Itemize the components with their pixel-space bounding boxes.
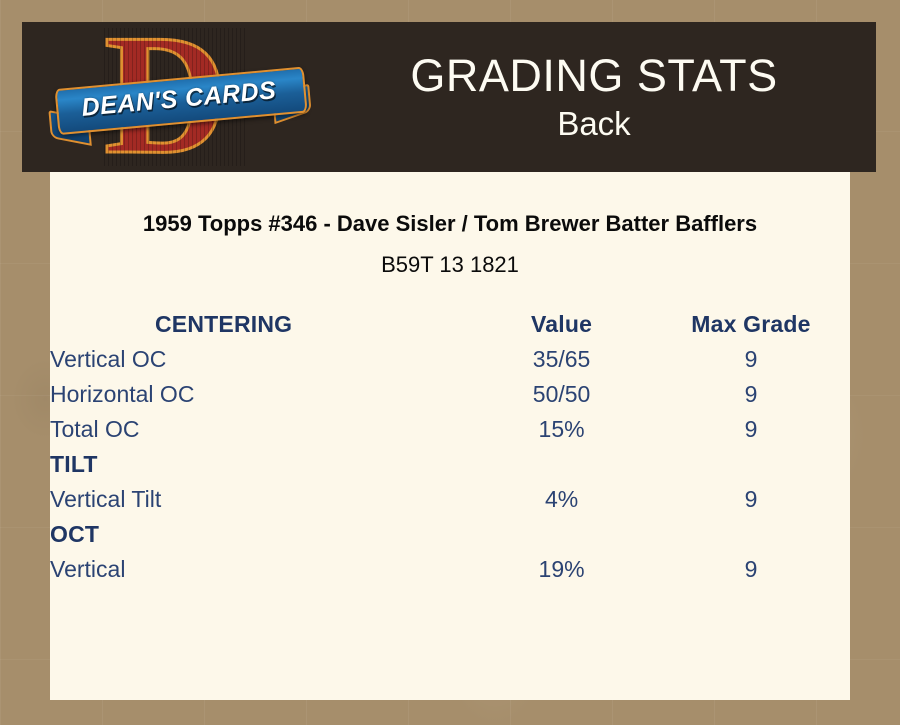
section-spacer-max <box>652 447 850 482</box>
table-row: Vertical OC35/659 <box>50 342 850 377</box>
row-label: Vertical OC <box>50 342 471 377</box>
table-row: Total OC15%9 <box>50 412 850 447</box>
stats-table-body: Vertical OC35/659Horizontal OC50/509Tota… <box>50 342 850 587</box>
stats-table-header-row: CENTERING Value Max Grade <box>50 307 850 342</box>
page-title: GRADING STATS <box>410 50 777 102</box>
row-label: Vertical Tilt <box>50 482 471 517</box>
page-subtitle: Back <box>557 104 630 144</box>
column-header-max-grade: Max Grade <box>652 307 850 342</box>
header-title-block: GRADING STATS Back <box>312 22 876 172</box>
row-label: Vertical <box>50 552 471 587</box>
section-spacer-value <box>471 517 652 552</box>
row-max-grade: 9 <box>652 377 850 412</box>
table-row: Vertical Tilt4%9 <box>50 482 850 517</box>
column-header-centering: CENTERING <box>50 307 471 342</box>
row-label: Horizontal OC <box>50 377 471 412</box>
row-value: 15% <box>471 412 652 447</box>
deans-cards-logo[interactable]: D DEAN'S CARDS <box>46 26 312 168</box>
row-max-grade: 9 <box>652 412 850 447</box>
row-value: 50/50 <box>471 377 652 412</box>
header-panel: D DEAN'S CARDS GRADING STATS Back <box>22 22 876 172</box>
grading-stats-table: CENTERING Value Max Grade Vertical OC35/… <box>50 307 850 587</box>
row-value: 4% <box>471 482 652 517</box>
content-panel: 1959 Topps #346 - Dave Sisler / Tom Brew… <box>50 172 850 700</box>
section-name: TILT <box>50 447 471 482</box>
section-name: OCT <box>50 517 471 552</box>
table-row: Horizontal OC50/509 <box>50 377 850 412</box>
section-spacer-max <box>652 517 850 552</box>
table-row: Vertical19%9 <box>50 552 850 587</box>
column-header-value: Value <box>471 307 652 342</box>
row-max-grade: 9 <box>652 552 850 587</box>
section-row: OCT <box>50 517 850 552</box>
row-max-grade: 9 <box>652 482 850 517</box>
card-code: B59T 13 1821 <box>50 239 850 279</box>
row-max-grade: 9 <box>652 342 850 377</box>
row-value: 35/65 <box>471 342 652 377</box>
row-value: 19% <box>471 552 652 587</box>
section-row: TILT <box>50 447 850 482</box>
row-label: Total OC <box>50 412 471 447</box>
stats-table-head: CENTERING Value Max Grade <box>50 307 850 342</box>
section-spacer-value <box>471 447 652 482</box>
